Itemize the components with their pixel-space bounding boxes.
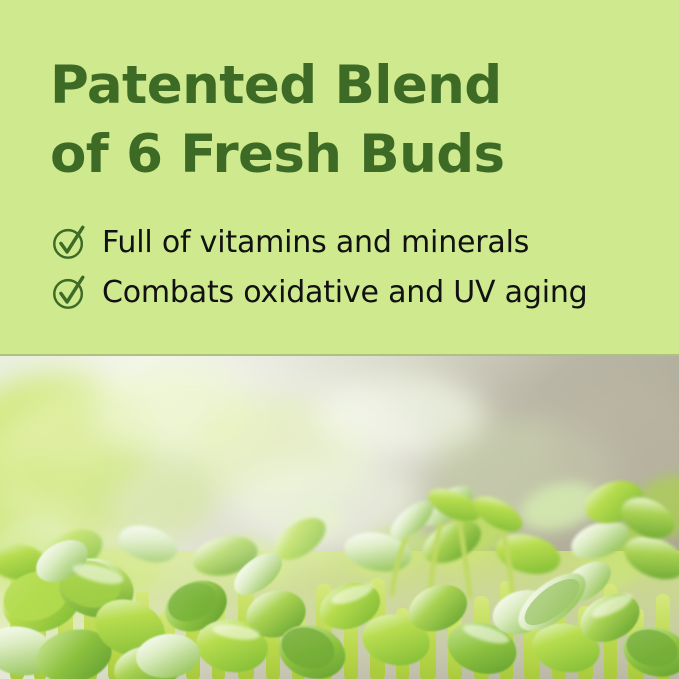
headline-line-1: Patented Blend <box>50 52 655 121</box>
headline-line-2: of 6 Fresh Buds <box>50 121 655 190</box>
list-item-label: Combats oxidative and UV aging <box>102 278 588 308</box>
check-circle-icon <box>50 223 88 261</box>
promo-banner-image: Patented Blend of 6 Fresh Buds Full of v… <box>0 0 679 679</box>
page-title: Patented Blend of 6 Fresh Buds <box>50 52 655 190</box>
list-item: Full of vitamins and minerals <box>50 224 655 262</box>
check-circle-icon <box>50 273 88 311</box>
text-panel: Patented Blend of 6 Fresh Buds Full of v… <box>0 0 679 356</box>
sprouts-photograph <box>0 356 679 679</box>
benefit-list: Full of vitamins and minerals Combats ox… <box>50 224 655 312</box>
list-item-label: Full of vitamins and minerals <box>102 228 529 258</box>
text-panel-content: Patented Blend of 6 Fresh Buds Full of v… <box>50 52 655 324</box>
list-item: Combats oxidative and UV aging <box>50 274 655 312</box>
